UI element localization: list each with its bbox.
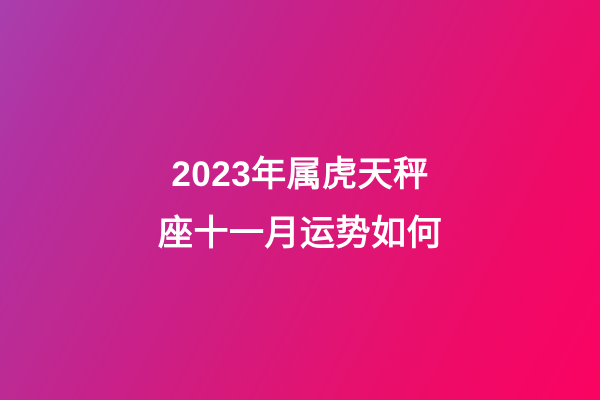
- banner-title: 2023年属虎天秤 座十一月运势如何: [0, 0, 600, 400]
- title-line-2: 座十一月运势如何: [158, 204, 442, 263]
- title-line-1: 2023年属虎天秤: [171, 145, 428, 204]
- gradient-banner: 2023年属虎天秤 座十一月运势如何: [0, 0, 600, 400]
